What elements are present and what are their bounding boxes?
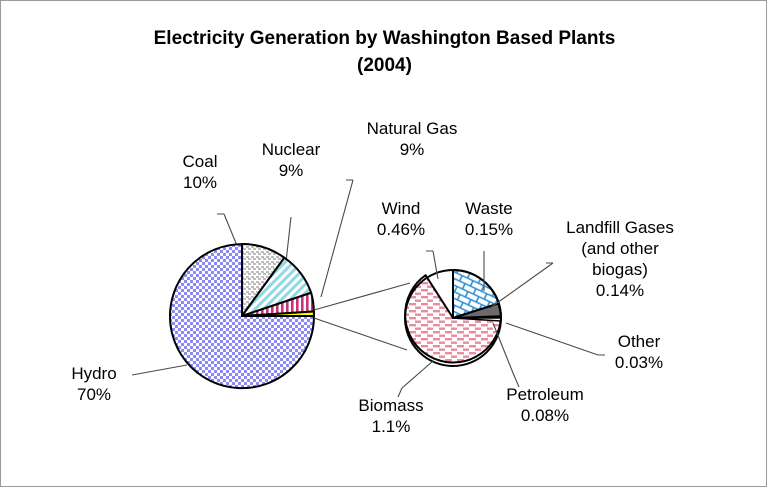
explosion-connectors [314,283,410,350]
label-landfill: Landfill Gases (and other biogas) 0.14% [553,217,687,301]
label-other: Other 0.03% [593,331,685,373]
label-petroleum: Petroleum 0.08% [490,384,600,426]
label-hydro: Hydro 70% [53,363,135,405]
label-coal: Coal 10% [164,151,236,193]
main-pie [170,244,314,388]
label-biomass: Biomass 1.1% [341,395,441,437]
label-wind: Wind 0.46% [363,198,439,240]
chart-figure: Electricity Generation by Washington Bas… [0,0,767,487]
label-waste: Waste 0.15% [447,198,531,240]
label-natural-gas: Natural Gas 9% [349,118,475,160]
label-nuclear: Nuclear 9% [244,139,338,181]
